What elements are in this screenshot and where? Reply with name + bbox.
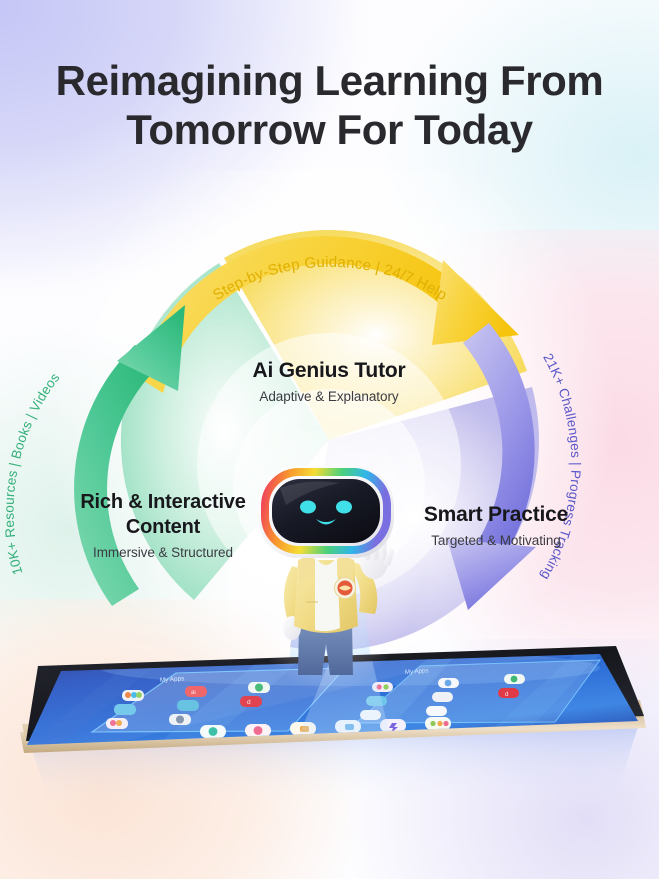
robot-jacket-badge <box>335 578 356 599</box>
node-content-title-line-1: Rich & Interactive <box>38 490 288 515</box>
node-content-title-line-2: Content <box>38 515 288 540</box>
dock-icon[interactable] <box>425 717 451 730</box>
tablet-app-icon[interactable] <box>438 678 459 688</box>
page-title-line-1: Reimagining Learning From <box>0 56 659 105</box>
dock-icon[interactable] <box>200 725 226 738</box>
node-content-subtitle: Immersive & Structured <box>38 545 288 560</box>
dock-icon[interactable] <box>245 724 271 737</box>
page-title: Reimagining Learning From Tomorrow For T… <box>0 56 659 154</box>
poster-root: Reimagining Learning From Tomorrow For T… <box>0 0 659 879</box>
tablet-app-icon[interactable]: d <box>498 688 519 698</box>
node-smart-practice: Smart Practice Targeted & Motivating <box>390 502 602 548</box>
page-title-line-2: Tomorrow For Today <box>0 105 659 154</box>
node-practice-subtitle: Targeted & Motivating <box>390 533 602 548</box>
robot-mascot <box>252 462 400 677</box>
node-tutor-title: Ai Genius Tutor <box>168 358 490 384</box>
node-practice-title: Smart Practice <box>390 502 602 528</box>
robot-helmet <box>258 466 394 558</box>
robot-jacket <box>294 554 358 633</box>
svg-text:d: d <box>505 691 509 698</box>
node-tutor-subtitle: Adaptive & Explanatory <box>168 389 490 404</box>
tablet-app-icon[interactable] <box>504 674 525 684</box>
node-ai-genius-tutor: Ai Genius Tutor Adaptive & Explanatory <box>168 358 490 404</box>
node-rich-interactive-content: Rich & Interactive Content Immersive & S… <box>38 490 288 560</box>
tablet-app-icon[interactable] <box>432 692 453 702</box>
tablet-app-icon[interactable] <box>426 706 447 716</box>
